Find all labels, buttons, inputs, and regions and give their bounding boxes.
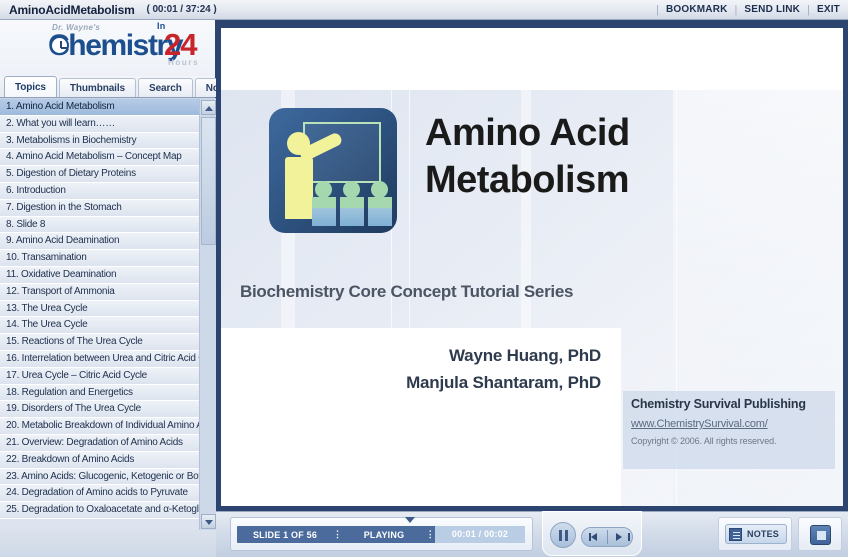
previous-icon — [591, 533, 597, 541]
header-separator-2: | — [735, 4, 738, 16]
notes-button[interactable]: NOTES — [725, 524, 787, 544]
scrollbar-thumb[interactable] — [201, 117, 216, 245]
topic-list-item[interactable]: 23. Amino Acids: Glucogenic, Ketogenic o… — [0, 469, 199, 486]
topic-list-item[interactable]: 14. The Urea Cycle — [0, 317, 199, 334]
notes-button-label: NOTES — [747, 529, 779, 539]
student-desk-2 — [340, 197, 364, 226]
topic-list-item[interactable]: 24. Degradation of Amino acids to Pyruva… — [0, 485, 199, 502]
topic-list-item[interactable]: 4. Amino Acid Metabolism – Concept Map — [0, 149, 199, 166]
topic-list-item[interactable]: 25. Degradation to Oxaloacetate and α-Ke… — [0, 502, 199, 519]
status-bar[interactable]: SLIDE 1 OF 56 ⋮ PLAYING ⋮ 00:01 / 00:02 — [237, 526, 525, 543]
slide-title-line2: Metabolism — [425, 159, 629, 202]
send-link-button[interactable]: SEND LINK — [744, 4, 800, 15]
bookmark-button[interactable]: BOOKMARK — [666, 4, 728, 15]
topic-list-item[interactable]: 12. Transport of Ammonia — [0, 284, 199, 301]
seek-marker-icon[interactable] — [405, 517, 415, 523]
topic-list-item[interactable]: 6. Introduction — [0, 183, 199, 200]
tab-search[interactable]: Search — [138, 78, 193, 97]
exit-button[interactable]: EXIT — [817, 4, 840, 15]
presenter-head-shape — [287, 132, 310, 155]
sidebar-tabs: Topics Thumbnails Search Notes — [0, 76, 215, 98]
topic-list-item[interactable]: 21. Overview: Degradation of Amino Acids — [0, 435, 199, 452]
topic-scrollbar[interactable] — [199, 99, 216, 530]
slide-time: 00:01 / 00:02 — [435, 526, 525, 543]
player-controls-bar: SLIDE 1 OF 56 ⋮ PLAYING ⋮ 00:01 / 00:02 … — [216, 511, 848, 557]
header-links: | BOOKMARK | SEND LINK | EXIT — [649, 4, 840, 16]
student-desk-1 — [312, 197, 336, 226]
app-header: AminoAcidMetabolism ( 00:01 / 37:24 ) | … — [0, 0, 848, 20]
scroll-up-icon[interactable] — [201, 100, 216, 115]
topic-list-item[interactable]: 13. The Urea Cycle — [0, 301, 199, 318]
presenter-icon — [269, 108, 397, 233]
slide-canvas: Amino Acid Metabolism Biochemistry Core … — [221, 28, 843, 506]
brand-logo: Dr. Wayne's Chemistry In 24 Hours — [0, 20, 215, 76]
pause-icon — [559, 530, 562, 541]
topic-list-item[interactable]: 10. Transamination — [0, 250, 199, 267]
slide-counter: SLIDE 1 OF 56 — [237, 530, 333, 540]
tab-thumbnails[interactable]: Thumbnails — [59, 78, 136, 97]
slide-top-band — [221, 28, 843, 90]
transport-controls — [542, 511, 642, 556]
presenter-body-shape — [285, 157, 313, 219]
topic-list-item[interactable]: 17. Urea Cycle – Citric Acid Cycle — [0, 368, 199, 385]
pause-button[interactable] — [550, 522, 576, 548]
header-separator-1: | — [656, 4, 659, 16]
fullscreen-group — [798, 517, 842, 551]
topic-list-item[interactable]: 8. Slide 8 — [0, 217, 199, 234]
student-head-1 — [315, 181, 332, 198]
publisher-block: Chemistry Survival Publishing www.Chemis… — [623, 391, 835, 469]
topic-list-item[interactable]: 16. Interrelation between Urea and Citri… — [0, 351, 199, 368]
topic-list-item[interactable]: 18. Regulation and Energetics — [0, 385, 199, 402]
topic-list-item[interactable]: 3. Metabolisms in Biochemistry — [0, 133, 199, 150]
scroll-down-icon[interactable] — [201, 514, 216, 529]
topic-list[interactable]: 1. Amino Acid Metabolism2. What you will… — [0, 99, 199, 530]
next-button[interactable] — [608, 528, 633, 546]
header-separator-3: | — [807, 4, 810, 16]
slide-subtitle: Biochemistry Core Concept Tutorial Serie… — [240, 282, 573, 302]
slide-author-1: Wayne Huang, PhD — [221, 346, 601, 366]
slide-title-line1: Amino Acid — [425, 112, 630, 155]
status-divider-2: ⋮ — [426, 529, 435, 540]
topic-list-item[interactable]: 20. Metabolic Breakdown of Individual Am… — [0, 418, 199, 435]
student-head-2 — [343, 181, 360, 198]
slide-stage: Amino Acid Metabolism Biochemistry Core … — [216, 20, 848, 511]
topic-list-item[interactable]: 11. Oxidative Deamination — [0, 267, 199, 284]
topic-list-item[interactable]: 1. Amino Acid Metabolism — [0, 99, 199, 116]
status-divider-1: ⋮ — [333, 529, 342, 540]
prev-next-group — [581, 527, 633, 547]
topic-list-item[interactable]: 15. Reactions of The Urea Cycle — [0, 334, 199, 351]
topic-list-container: 1. Amino Acid Metabolism2. What you will… — [0, 98, 216, 530]
notes-group: NOTES — [718, 517, 792, 551]
topic-list-item[interactable]: 5. Digestion of Dietary Proteins — [0, 166, 199, 183]
fullscreen-button[interactable] — [810, 525, 831, 545]
topic-list-item[interactable]: 7. Digestion in the Stomach — [0, 200, 199, 217]
copyright-text: Copyright © 2006. All rights reserved. — [631, 436, 835, 446]
publisher-url-link[interactable]: www.ChemistrySurvival.com/ — [631, 418, 835, 430]
app-title: AminoAcidMetabolism — [9, 3, 135, 17]
logo-hours: Hours — [168, 58, 199, 67]
slide-author-2: Manjula Shantaram, PhD — [221, 373, 601, 393]
playback-state: PLAYING — [342, 530, 426, 540]
previous-button[interactable] — [582, 528, 607, 546]
topic-list-item[interactable]: 19. Disorders of The Urea Cycle — [0, 401, 199, 418]
topic-list-item[interactable]: 2. What you will learn…… — [0, 116, 199, 133]
topic-list-item[interactable]: 22. Breakdown of Amino Acids — [0, 452, 199, 469]
next-icon — [616, 533, 622, 541]
publisher-name: Chemistry Survival Publishing — [631, 397, 835, 411]
sidebar-footer — [0, 530, 216, 557]
student-desk-3 — [368, 197, 392, 226]
sidebar: Dr. Wayne's Chemistry In 24 Hours Topics… — [0, 20, 216, 557]
clock-icon — [50, 36, 69, 55]
header-elapsed-time: ( 00:01 / 37:24 ) — [147, 4, 217, 15]
status-group: SLIDE 1 OF 56 ⋮ PLAYING ⋮ 00:01 / 00:02 — [230, 517, 533, 551]
topic-list-item[interactable]: 9. Amino Acid Deamination — [0, 233, 199, 250]
student-head-3 — [371, 181, 388, 198]
tab-topics[interactable]: Topics — [4, 76, 57, 97]
notes-icon — [729, 528, 742, 541]
